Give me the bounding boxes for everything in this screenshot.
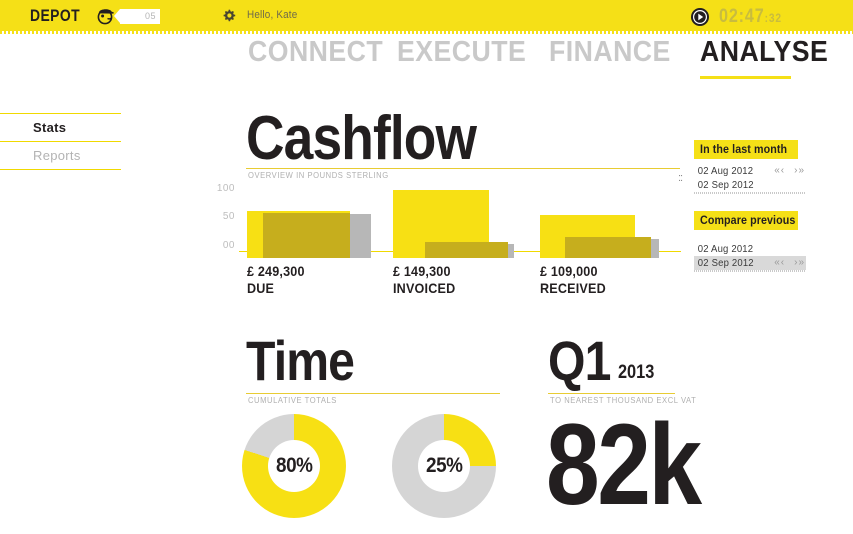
last-arrow-icon[interactable]: » [798,166,804,176]
bar-value-due: £ 249,300 [247,263,305,279]
date-range-panel: In the last month :: 02 Aug 2012 « ‹ › »… [678,140,853,272]
donut-center-80: 80% [268,440,320,492]
prev-arrow-icon[interactable]: ‹ [781,258,784,268]
drag-handle-icon[interactable]: :: [678,173,682,184]
donut-center-25: 25% [418,440,470,492]
q1-heading: Q12013 [548,333,663,389]
first-arrow-icon[interactable]: « [774,166,780,176]
logo-badge-value: 05 [145,11,156,21]
sidebar-divider-bottom [0,169,121,170]
timer-seconds: :32 [765,11,782,25]
play-circle-icon[interactable] [690,7,710,27]
time-title: Time [246,333,354,389]
logo-badge: 05 [120,9,160,24]
cashflow-subtitle: OVERVIEW IN POUNDS STERLING [248,171,389,180]
bar-compare-due[interactable] [263,213,350,258]
session-timer[interactable]: 02:47:32 [690,6,793,28]
prev-arrow-icon[interactable]: ‹ [781,166,784,176]
q1-rule [548,393,675,394]
bar-label-received: £ 109,000 RECEIVED [540,263,606,297]
range-a-start-date: 02 Aug 2012 [694,166,753,177]
bowler-hat-face-icon [96,6,116,26]
bar-category-invoiced: INVOICED [393,280,455,296]
range-a-arrows[interactable]: « ‹ › » [774,164,804,178]
range-b: 02 Aug 2012 02 Sep 2012 « ‹ › » [694,242,806,272]
range-b-end-row[interactable]: 02 Sep 2012 « ‹ › » [694,256,806,270]
last-month-button[interactable]: In the last month [694,140,798,159]
range-a-divider [694,192,806,194]
timer-hm: 02:47 [719,6,765,27]
last-month-label: In the last month [700,144,787,156]
donut-value-80: 80% [276,454,312,478]
active-tab-underline [700,76,791,79]
compare-previous-label: Compare previous [700,215,795,227]
range-a-start-row[interactable]: 02 Aug 2012 « ‹ › » [694,164,806,178]
q1-big-number: 82k [546,408,700,523]
app-root: DEPOT 05 Hello, Kate [0,0,853,534]
bar-category-received: RECEIVED [540,280,606,296]
range-b-start-date: 02 Aug 2012 [694,244,753,255]
range-a-end-date: 02 Sep 2012 [694,180,754,191]
time-subtitle: CUMULATIVE TOTALS [248,396,337,405]
y-tick-50: 50 [223,211,235,222]
y-tick-00: 00 [223,240,235,251]
range-b-end-date: 02 Sep 2012 [694,258,754,269]
main-nav: CONNECT EXECUTE FINANCE ANALYSE [0,36,853,86]
timer-value: 02:47:32 [719,6,782,28]
range-a: 02 Aug 2012 « ‹ › » 02 Sep 2012 [694,164,806,194]
bar-group-due[interactable] [247,190,387,258]
range-b-divider [694,270,806,272]
y-tick-100: 100 [217,183,235,194]
q1-year: 2013 [618,362,654,384]
bar-compare-invoiced[interactable] [425,242,508,258]
chart-y-axis: 100 50 00 [207,183,239,251]
bar-previous-due[interactable] [350,214,371,258]
bar-category-due: DUE [247,280,274,296]
donut-value-25: 25% [426,454,462,478]
topbar-dotted-edge [0,31,853,34]
gear-icon[interactable] [222,9,236,23]
range-a-end-row[interactable]: 02 Sep 2012 [694,178,806,192]
bar-label-invoiced: £ 149,300 INVOICED [393,263,455,297]
tab-finance[interactable]: FINANCE [549,36,671,69]
top-bar: DEPOT 05 Hello, Kate [0,0,853,31]
time-rule [246,393,500,394]
sidebar: Stats Reports [0,113,121,170]
greeting-text: Hello, Kate [247,9,297,21]
tab-analyse[interactable]: ANALYSE [700,36,828,69]
next-arrow-icon[interactable]: › [794,166,797,176]
tab-execute[interactable]: EXECUTE [397,36,526,69]
range-b-start-row[interactable]: 02 Aug 2012 [694,242,806,256]
logo-text: DEPOT [30,6,80,26]
range-b-arrows[interactable]: « ‹ › » [774,256,804,270]
app-logo[interactable]: DEPOT 05 [30,4,160,28]
bar-value-invoiced: £ 149,300 [393,263,451,279]
donut-chart-25[interactable]: 25% [392,414,496,518]
tab-connect[interactable]: CONNECT [248,36,383,69]
cashflow-bar-chart: 100 50 00 £ 249,300 DUE £ 149,300 INVOIC… [207,183,687,258]
next-arrow-icon[interactable]: › [794,258,797,268]
page-title: Cashflow [246,108,476,170]
compare-previous-button[interactable]: Compare previous [694,211,798,230]
bar-value-received: £ 109,000 [540,263,598,279]
bar-label-due: £ 249,300 DUE [247,263,305,297]
donut-chart-80[interactable]: 80% [242,414,346,518]
bar-group-received[interactable] [540,190,680,258]
cashflow-rule [246,168,680,169]
q1-title: Q1 [548,333,611,389]
sidebar-item-reports[interactable]: Reports [0,142,121,169]
sidebar-item-stats[interactable]: Stats [0,114,121,141]
first-arrow-icon[interactable]: « [774,258,780,268]
bar-group-invoiced[interactable] [393,190,533,258]
last-arrow-icon[interactable]: » [798,258,804,268]
bar-compare-received[interactable] [565,237,651,258]
